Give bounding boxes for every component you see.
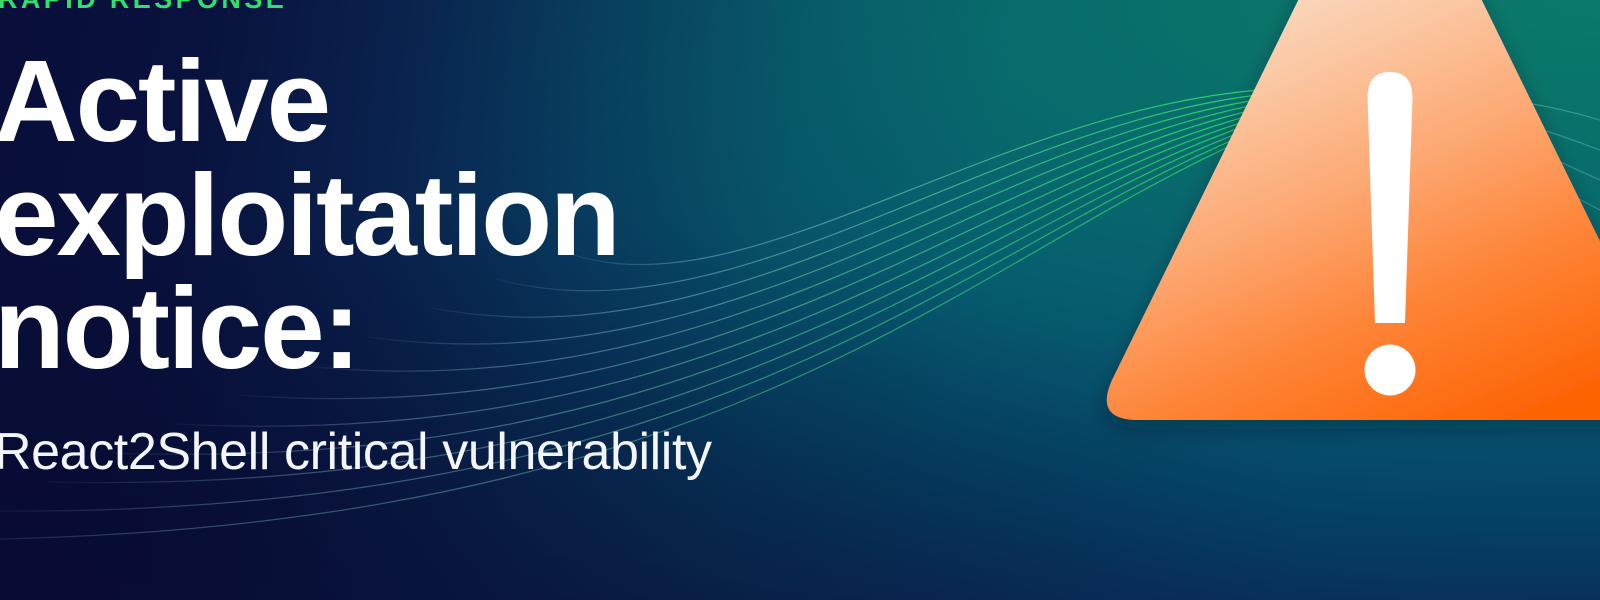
page-title: Active exploitation notice:	[0, 45, 774, 386]
subtitle: React2Shell critical vulnerability	[0, 424, 774, 481]
eyebrow-label: RAPID RESPONSE	[0, 0, 774, 13]
banner-copy: RAPID RESPONSE Active exploitation notic…	[0, 0, 774, 481]
rapid-response-banner: RAPID RESPONSE Active exploitation notic…	[0, 0, 1600, 600]
